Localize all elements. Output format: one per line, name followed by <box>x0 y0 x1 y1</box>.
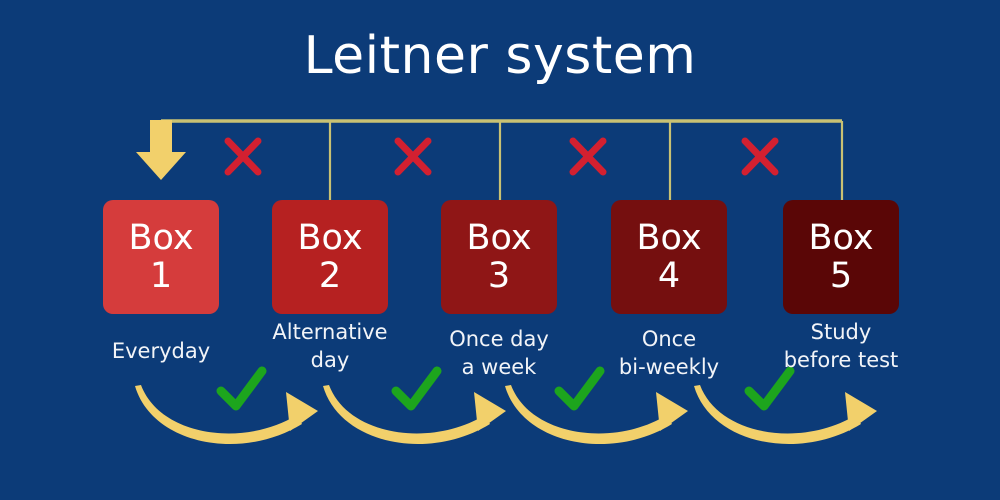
box-label-word: Box <box>297 219 362 257</box>
box-card-2[interactable]: Box 2 <box>272 200 388 314</box>
caption-line: bi-weekly <box>584 353 754 381</box>
box-label-word: Box <box>466 219 531 257</box>
box-caption-1: Everyday <box>76 337 246 365</box>
cross-marks-group <box>228 141 775 172</box>
box-caption-4: Once bi-weekly <box>584 325 754 381</box>
leitner-system-diagram: Leitner system Box 1 Box 2 Box 3 Box 4 B… <box>0 0 1000 500</box>
box-label-word: Box <box>808 219 873 257</box>
caption-line: Once <box>584 325 754 353</box>
caption-line: before test <box>756 346 926 374</box>
page-title: Leitner system <box>0 26 1000 86</box>
box-caption-3: Once day a week <box>414 325 584 381</box>
box-label-number: 4 <box>658 257 680 295</box>
check-icon-4 <box>749 371 790 406</box>
cross-icon-4 <box>745 141 775 172</box>
caption-line: Everyday <box>76 337 246 365</box>
box-label-number: 3 <box>488 257 510 295</box>
box-card-5[interactable]: Box 5 <box>783 200 899 314</box>
box-caption-2: Alternative day <box>245 318 415 374</box>
caption-line: Once day <box>414 325 584 353</box>
box-label-word: Box <box>636 219 701 257</box>
box-label-word: Box <box>128 219 193 257</box>
box-card-4[interactable]: Box 4 <box>611 200 727 314</box>
caption-line: day <box>245 346 415 374</box>
box-card-1[interactable]: Box 1 <box>103 200 219 314</box>
promotion-arrow-4 <box>694 385 877 444</box>
cross-icon-1 <box>228 141 258 172</box>
caption-line: a week <box>414 353 584 381</box>
box-label-number: 1 <box>150 257 172 295</box>
return-path-group <box>161 121 842 200</box>
caption-line: Study <box>756 318 926 346</box>
box-card-3[interactable]: Box 3 <box>441 200 557 314</box>
box-label-number: 5 <box>830 257 852 295</box>
caption-line: Alternative <box>245 318 415 346</box>
check-icon-1 <box>221 371 262 406</box>
promotion-arrow-3 <box>505 385 688 444</box>
down-arrow-to-box1 <box>136 120 186 180</box>
cross-icon-2 <box>398 141 428 172</box>
box-label-number: 2 <box>319 257 341 295</box>
box-caption-5: Study before test <box>756 318 926 374</box>
cross-icon-3 <box>573 141 603 172</box>
